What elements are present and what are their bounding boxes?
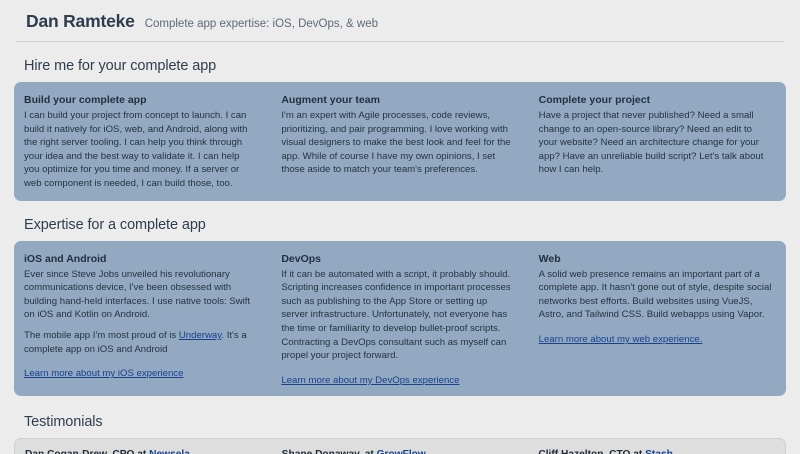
card-ios-and-android: iOS and Android Ever since Steve Jobs un… xyxy=(14,249,271,388)
site-tagline: Complete app expertise: iOS, DevOps, & w… xyxy=(145,18,378,30)
portfolio-page: Dan Ramteke Complete app expertise: iOS,… xyxy=(0,0,800,454)
testimonial-dan-cogan-drew: Dan Cogan-Drew, CPO at Newsela "Daniel g… xyxy=(15,447,272,454)
card-title: iOS and Android xyxy=(24,253,257,265)
card-body: If it can be automated with a script, it… xyxy=(281,268,514,363)
card-web: Web A solid web presence remains an impo… xyxy=(529,249,786,388)
underway-link[interactable]: Underway xyxy=(179,330,221,341)
card-body: Have a project that never published? Nee… xyxy=(539,109,772,177)
card-title: DevOps xyxy=(281,253,514,265)
testimonial-author: Shane Donaway, at GrowFlow xyxy=(282,449,515,454)
section-title-hire: Hire me for your complete app xyxy=(14,58,786,74)
testimonials-band: Dan Cogan-Drew, CPO at Newsela "Daniel g… xyxy=(14,438,786,454)
testimonial-cliff-hazelton: Cliff Hazelton, CTO at Stash "Dan is a d… xyxy=(528,447,785,454)
card-title: Complete your project xyxy=(539,94,772,106)
testimonial-author-text: Dan Cogan-Drew, CPO at xyxy=(25,449,149,454)
learn-more-web-link[interactable]: Learn more about my web experience. xyxy=(539,334,703,345)
testimonial-author: Cliff Hazelton, CTO at Stash xyxy=(538,449,771,454)
section-title-testimonials: Testimonials xyxy=(14,414,786,430)
card-build-your-complete-app: Build your complete app I can build your… xyxy=(14,90,271,191)
card-title: Web xyxy=(539,253,772,265)
site-title: Dan Ramteke xyxy=(26,11,135,32)
learn-more-ios-link[interactable]: Learn more about my iOS experience xyxy=(24,368,183,379)
testimonial-author: Dan Cogan-Drew, CPO at Newsela xyxy=(25,449,258,454)
card-title: Build your complete app xyxy=(24,94,257,106)
section-title-expertise: Expertise for a complete app xyxy=(14,217,786,233)
card-devops: DevOps If it can be automated with a scr… xyxy=(271,249,528,388)
card-body-text: The mobile app I'm most proud of is xyxy=(24,330,179,341)
growflow-link[interactable]: GrowFlow xyxy=(377,449,426,454)
testimonials-card-row: Dan Cogan-Drew, CPO at Newsela "Daniel g… xyxy=(14,438,786,454)
card-augment-your-team: Augment your team I'm an expert with Agi… xyxy=(271,90,528,191)
hire-band: Build your complete app I can build your… xyxy=(14,82,786,201)
site-header: Dan Ramteke Complete app expertise: iOS,… xyxy=(16,0,784,42)
card-title: Augment your team xyxy=(281,94,514,106)
testimonial-author-text: Cliff Hazelton, CTO at xyxy=(538,449,645,454)
card-complete-your-project: Complete your project Have a project tha… xyxy=(529,90,786,191)
card-body: I can build your project from concept to… xyxy=(24,109,257,191)
newsela-link[interactable]: Newsela xyxy=(149,449,190,454)
card-body: I'm an expert with Agile processes, code… xyxy=(281,109,514,177)
expertise-band: iOS and Android Ever since Steve Jobs un… xyxy=(14,241,786,396)
card-body-secondary: The mobile app I'm most proud of is Unde… xyxy=(24,329,257,356)
testimonial-shane-donaway: Shane Donaway, at GrowFlow "5 stars, wou… xyxy=(272,447,529,454)
expertise-card-row: iOS and Android Ever since Steve Jobs un… xyxy=(14,241,786,396)
learn-more-devops-link[interactable]: Learn more about my DevOps experience xyxy=(281,375,459,386)
hire-card-row: Build your complete app I can build your… xyxy=(14,82,786,201)
stash-link[interactable]: Stash xyxy=(645,449,673,454)
card-body: Ever since Steve Jobs unveiled his revol… xyxy=(24,268,257,322)
card-body: A solid web presence remains an importan… xyxy=(539,268,772,322)
testimonial-author-text: Shane Donaway, at xyxy=(282,449,377,454)
